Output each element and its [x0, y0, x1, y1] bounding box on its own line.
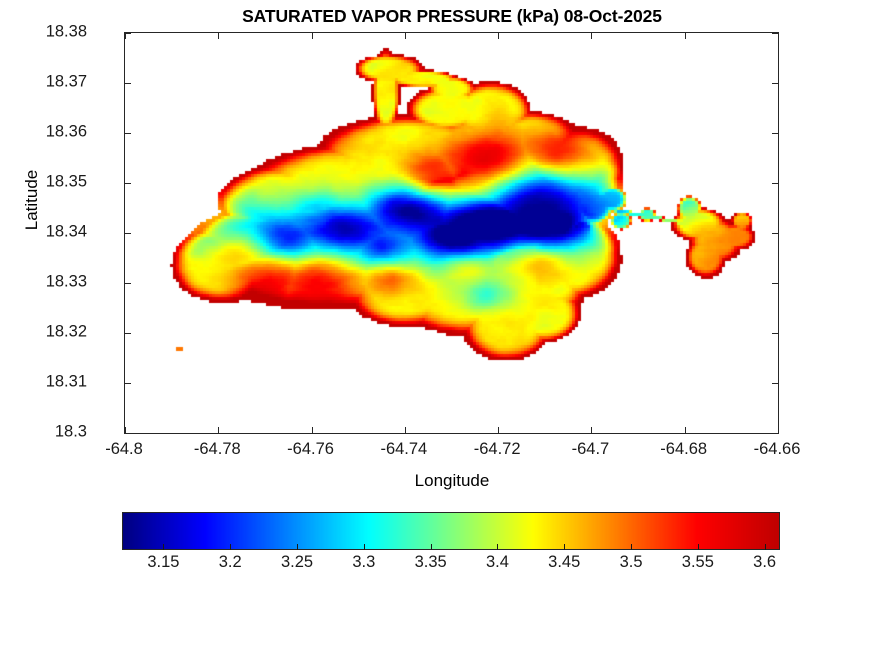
y-tick-mark-right	[772, 283, 778, 284]
y-tick-label: 18.34	[46, 223, 87, 242]
y-tick-mark	[125, 333, 131, 334]
y-tick-label: 18.37	[46, 73, 87, 92]
y-tick-mark	[125, 433, 131, 434]
y-tick-mark-right	[772, 333, 778, 334]
x-tick-label: -64.66	[754, 440, 801, 459]
x-tick-label: -64.72	[474, 440, 521, 459]
colorbar-tick-mark	[497, 544, 498, 550]
y-axis-label: Latitude	[22, 140, 42, 260]
x-tick-mark-top	[778, 33, 779, 39]
page-title: SATURATED VAPOR PRESSURE (kPa) 08-Oct-20…	[124, 6, 780, 27]
y-tick-label: 18.35	[46, 173, 87, 192]
x-tick-label: -64.8	[105, 440, 143, 459]
y-tick-mark	[125, 83, 131, 84]
colorbar-tick-label: 3.25	[281, 553, 313, 572]
y-tick-mark	[125, 133, 131, 134]
x-tick-mark	[685, 427, 686, 433]
colorbar-tick-label: 3.5	[620, 553, 643, 572]
y-tick-label: 18.33	[46, 273, 87, 292]
y-tick-mark	[125, 383, 131, 384]
y-tick-mark-right	[772, 233, 778, 234]
y-tick-mark-right	[772, 183, 778, 184]
colorbar-tick-label: 3.45	[548, 553, 580, 572]
y-tick-mark-right	[772, 383, 778, 384]
x-axis-label: Longitude	[124, 471, 780, 491]
y-tick-mark	[125, 283, 131, 284]
y-tick-mark-right	[772, 83, 778, 84]
colorbar-tick-mark	[631, 544, 632, 550]
y-tick-mark	[125, 33, 131, 34]
y-tick-label: 18.31	[46, 373, 87, 392]
colorbar-tick-label: 3.2	[219, 553, 242, 572]
y-tick-mark-right	[772, 133, 778, 134]
y-tick-label: 18.36	[46, 123, 87, 142]
colorbar[interactable]	[122, 512, 780, 550]
y-tick-label: 18.3	[55, 423, 87, 442]
x-tick-mark-top	[218, 33, 219, 39]
x-tick-mark	[778, 427, 779, 433]
x-tick-label: -64.68	[660, 440, 707, 459]
y-tick-mark-right	[772, 433, 778, 434]
colorbar-tick-mark	[364, 544, 365, 550]
x-tick-mark-top	[498, 33, 499, 39]
colorbar-tick-mark	[765, 544, 766, 550]
colorbar-tick-mark	[431, 544, 432, 550]
colorbar-tick-label: 3.3	[352, 553, 375, 572]
colorbar-gradient	[122, 512, 780, 550]
colorbar-tick-mark	[564, 544, 565, 550]
figure-canvas: SATURATED VAPOR PRESSURE (kPa) 08-Oct-20…	[0, 0, 875, 656]
colorbar-tick-label: 3.4	[486, 553, 509, 572]
x-tick-label: -64.7	[572, 440, 610, 459]
colorbar-tick-mark	[163, 544, 164, 550]
y-tick-mark	[125, 183, 131, 184]
x-tick-mark	[591, 427, 592, 433]
x-tick-mark	[405, 427, 406, 433]
x-tick-mark-top	[405, 33, 406, 39]
colorbar-tick-label: 3.55	[682, 553, 714, 572]
colorbar-tick-label: 3.6	[753, 553, 776, 572]
y-tick-mark-right	[772, 33, 778, 34]
colorbar-tick-label: 3.35	[415, 553, 447, 572]
colorbar-tick-mark	[698, 544, 699, 550]
x-tick-label: -64.78	[194, 440, 241, 459]
y-tick-mark	[125, 233, 131, 234]
x-tick-label: -64.74	[380, 440, 427, 459]
x-tick-mark	[312, 427, 313, 433]
x-tick-mark	[218, 427, 219, 433]
colorbar-tick-label: 3.15	[147, 553, 179, 572]
x-tick-mark-top	[312, 33, 313, 39]
y-tick-label: 18.32	[46, 323, 87, 342]
map-axes[interactable]	[124, 32, 779, 434]
y-tick-label: 18.38	[46, 23, 87, 42]
colorbar-tick-mark	[297, 544, 298, 550]
x-tick-mark-top	[685, 33, 686, 39]
x-tick-mark-top	[591, 33, 592, 39]
x-tick-label: -64.76	[287, 440, 334, 459]
heatmap-raster	[125, 33, 778, 433]
x-tick-mark	[498, 427, 499, 433]
colorbar-tick-mark	[230, 544, 231, 550]
